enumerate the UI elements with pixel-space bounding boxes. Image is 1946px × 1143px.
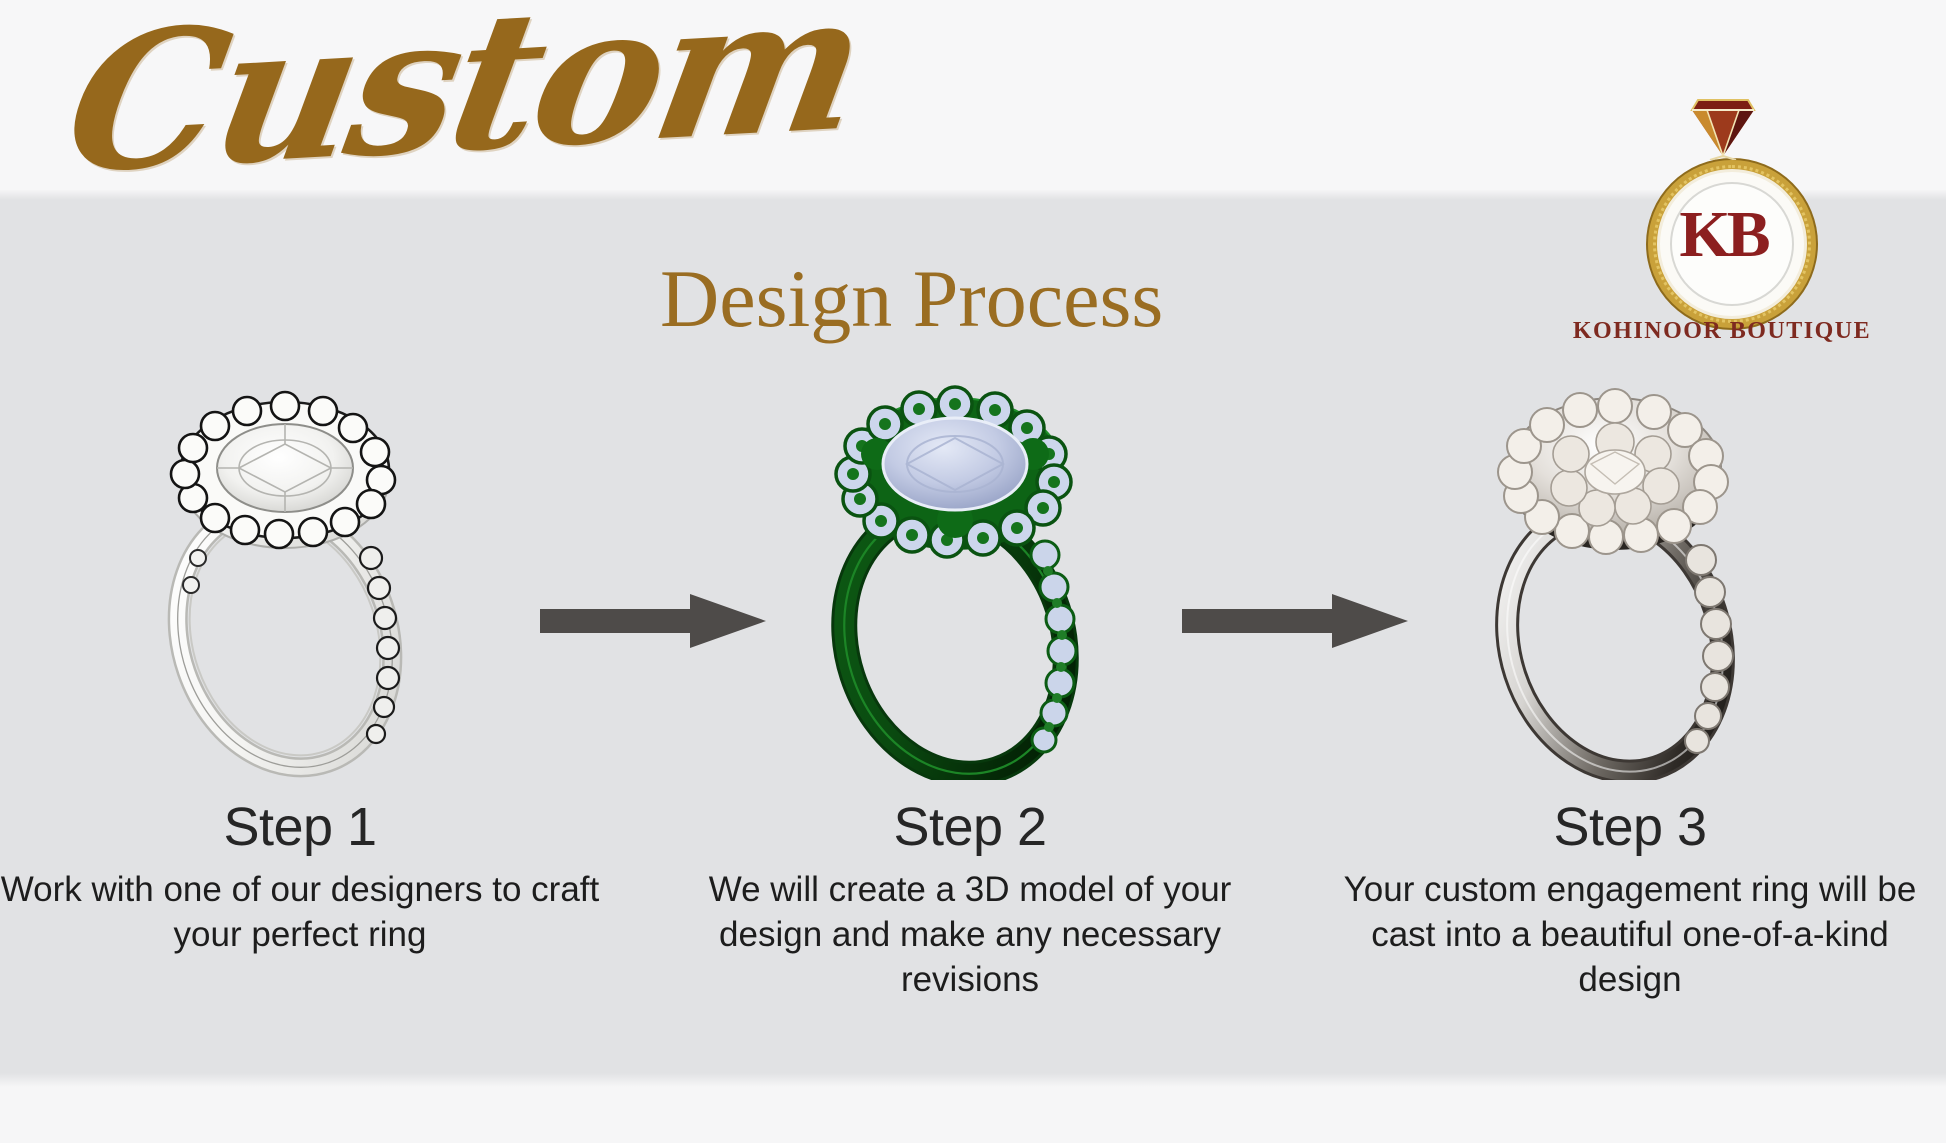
step-description: Your custom engagement ring will be cast… xyxy=(1330,868,1930,1002)
step-description: Work with one of our designers to craft … xyxy=(0,868,600,958)
ring-3d-model-green-icon xyxy=(805,380,1135,780)
step-title: Step 2 xyxy=(893,796,1046,858)
page-title-script: Custom xyxy=(55,0,873,200)
step-card-1: Step 1 Work with one of our designers to… xyxy=(0,380,610,958)
custom-design-process-poster: Custom Design Process KB KOHINOOR BOUTIQ… xyxy=(0,0,1946,1143)
page-subtitle: Design Process xyxy=(660,258,1163,340)
steps-row: Step 1 Work with one of our designers to… xyxy=(0,380,1946,1100)
diamond-gem-icon xyxy=(1680,94,1766,160)
logo-monogram: KB xyxy=(1648,160,1798,310)
ring-sketch-wireframe-icon xyxy=(135,380,465,780)
step-description: We will create a 3D model of your design… xyxy=(670,868,1270,1002)
step-title: Step 3 xyxy=(1553,796,1706,858)
ring-finished-photo-icon xyxy=(1465,380,1795,780)
brand-name: KOHINOOR BOUTIQUE xyxy=(1572,318,1872,345)
step-title: Step 1 xyxy=(223,796,376,858)
step-card-3: Step 3 Your custom engagement ring will … xyxy=(1320,380,1940,1002)
step-card-2: Step 2 We will create a 3D model of your… xyxy=(660,380,1280,1002)
brand-logo[interactable]: KB KOHINOOR BOUTIQUE xyxy=(1572,78,1872,328)
